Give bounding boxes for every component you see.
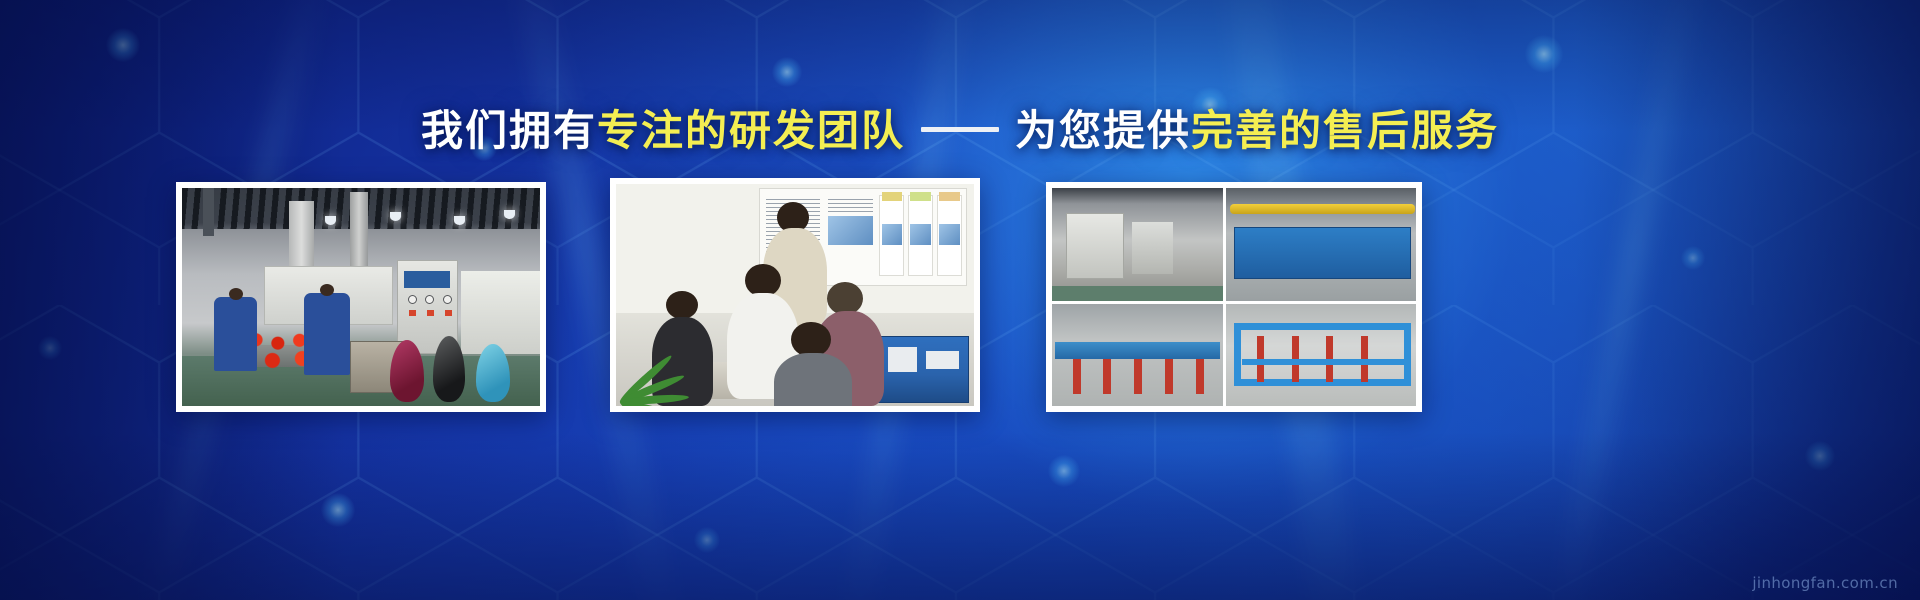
photo-frame-2 <box>616 184 974 406</box>
collage-cell-tunnel <box>1226 188 1416 301</box>
collage-cell-oven <box>1052 188 1223 301</box>
photo-frame-3 <box>1052 188 1416 406</box>
photo-image-team-meeting <box>616 184 974 406</box>
promo-banner: 我们拥有专注的研发团队为您提供完善的售后服务 <box>0 0 1920 600</box>
collage-cell-rack <box>1226 304 1416 406</box>
photo-panel-production-collage[interactable] <box>1046 182 1422 412</box>
photo-panel-group <box>0 0 1920 600</box>
collage-cell-conveyor <box>1052 304 1223 406</box>
site-watermark: jinhongfan.com.cn <box>1752 574 1898 592</box>
photo-panel-factory-line[interactable] <box>176 182 546 412</box>
photo-image-factory-line <box>182 188 540 406</box>
photo-image-production-collage <box>1052 188 1416 406</box>
photo-panel-team-meeting[interactable] <box>610 178 980 412</box>
photo-frame-1 <box>182 188 540 406</box>
